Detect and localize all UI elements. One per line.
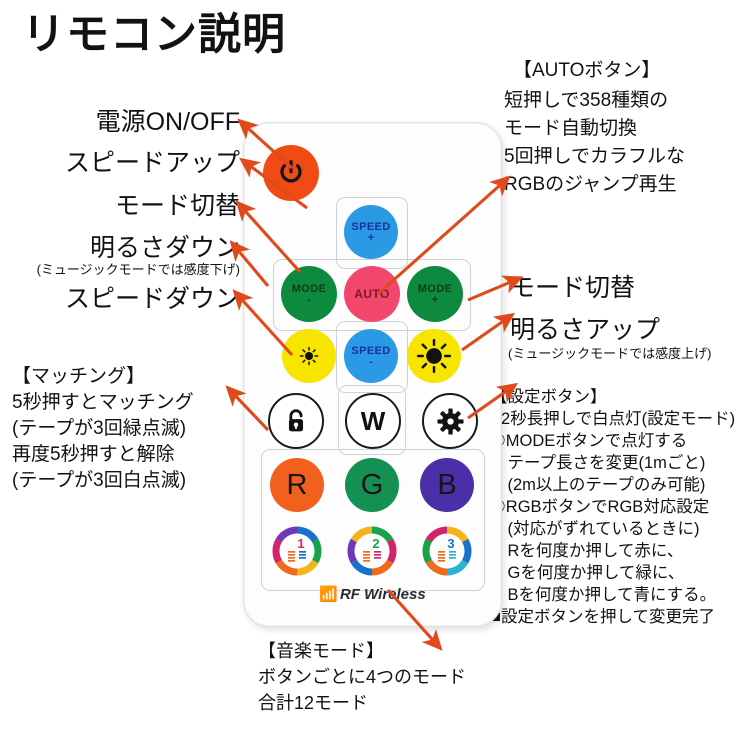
red-button[interactable]: R: [270, 458, 324, 512]
auto-line-1: 短押しで358種類の: [504, 88, 668, 113]
label-brightness-up: 明るさアップ: [510, 314, 660, 346]
svg-text:1: 1: [297, 536, 304, 551]
music-mode-icon: 1: [271, 525, 323, 577]
settings-line-5: ②RGBボタンでRGB対応設定: [491, 497, 709, 518]
wifi-icon: 📶: [319, 586, 338, 603]
matching-line-3: 再度5秒押すと解除: [12, 442, 175, 467]
unlock-icon: [281, 406, 311, 436]
settings-line-9: Bを何度か押して青にする。: [491, 585, 716, 606]
speed-down-button[interactable]: SPEED -: [344, 329, 398, 383]
auto-line-3: 5回押しでカラフルな: [504, 144, 685, 169]
remote-instruction-diagram: リモコン説明 電源ON/OFF スピードアップ モード切替 明るさダウン (ミュ…: [0, 0, 750, 750]
white-button[interactable]: W: [345, 393, 401, 449]
speed-up-button[interactable]: SPEED +: [344, 205, 398, 259]
mode-minus-button[interactable]: MODE -: [281, 266, 337, 322]
auto-button[interactable]: AUTO: [344, 266, 400, 322]
label-mode-switch-right: モード切替: [510, 272, 635, 304]
music-mode-icon: 3: [421, 525, 473, 577]
settings-line-8: Gを何度か押して緑に、: [491, 563, 684, 584]
svg-text:2: 2: [372, 536, 379, 551]
auto-line-2: モード自動切換: [504, 116, 637, 141]
green-button-label: G: [361, 471, 384, 500]
label-mode-switch-left: モード切替: [0, 190, 240, 222]
music-mode-icon: 2: [346, 525, 398, 577]
label-brightness-down-note: (ミュージックモードでは感度下げ): [0, 262, 240, 279]
green-button[interactable]: G: [345, 458, 399, 512]
label-speed-down: スピードダウン: [0, 283, 240, 315]
music-line-1: ボタンごとに4つのモード: [258, 666, 466, 690]
auto-label: AUTO: [354, 288, 389, 300]
music-mode-1-button[interactable]: 1: [271, 525, 323, 577]
red-button-label: R: [287, 471, 308, 500]
label-speed-up: スピードアップ: [0, 147, 240, 179]
gear-icon: [436, 407, 465, 436]
brand-label: 📶RF Wireless: [319, 585, 425, 603]
remote-control-body: SPEED + MODE - AUTO MODE +: [243, 122, 502, 627]
mode-minus-label: MODE: [292, 284, 327, 295]
sun-small-icon: [296, 343, 322, 369]
music-mode-3-button[interactable]: 3: [421, 525, 473, 577]
settings-line-4: (2m以上のテープのみ可能): [491, 475, 705, 496]
brand-text: RF Wireless: [340, 586, 426, 603]
speed-up-label: SPEED: [351, 222, 390, 233]
speed-down-label: SPEED: [351, 346, 390, 357]
mode-minus-sub: -: [307, 296, 311, 305]
auto-line-4: RGBのジャンプ再生: [504, 172, 677, 197]
music-mode-2-button[interactable]: 2: [346, 525, 398, 577]
lock-button[interactable]: [268, 393, 324, 449]
matching-heading: 【マッチング】: [12, 364, 145, 389]
auto-heading: 【AUTOボタン】: [513, 58, 660, 83]
label-brightness-up-note: (ミュージックモードでは感度上げ): [508, 346, 711, 363]
brightness-down-button[interactable]: [282, 329, 336, 383]
settings-heading: 【設定ボタン】: [491, 387, 607, 408]
music-heading: 【音楽モード】: [258, 640, 384, 664]
mode-plus-label: MODE: [418, 284, 453, 295]
music-line-2: 合計12モード: [258, 692, 368, 716]
blue-button[interactable]: B: [420, 458, 474, 512]
sun-large-icon: [415, 337, 453, 375]
speed-down-sub: -: [369, 358, 373, 367]
settings-line-3: テープ長さを変更(1mごと): [491, 453, 705, 474]
settings-button[interactable]: [422, 393, 478, 449]
mode-plus-button[interactable]: MODE +: [407, 266, 463, 322]
matching-line-1: 5秒押すとマッチング: [12, 390, 194, 415]
label-power-onoff: 電源ON/OFF: [0, 106, 240, 138]
brightness-up-button[interactable]: [407, 329, 461, 383]
power-icon: [276, 158, 306, 188]
matching-line-4: (テープが3回白点滅): [12, 468, 186, 493]
page-title: リモコン説明: [22, 8, 286, 63]
svg-text:3: 3: [447, 536, 454, 551]
settings-line-10: ■設定ボタンを押して変更完了: [491, 607, 715, 628]
power-button[interactable]: [263, 145, 319, 201]
speed-up-sub: +: [368, 234, 374, 243]
settings-line-6: (対応がずれているときに): [491, 519, 700, 540]
settings-line-2: ①MODEボタンで点灯する: [491, 431, 687, 452]
label-brightness-down: 明るさダウン: [0, 232, 240, 264]
white-button-label: W: [361, 408, 386, 434]
mode-plus-sub: +: [432, 296, 438, 305]
settings-line-1: ■2秒長押しで白点灯(設定モード): [491, 409, 735, 430]
settings-line-7: Rを何度か押して赤に、: [491, 541, 683, 562]
matching-line-2: (テープが3回緑点滅): [12, 416, 186, 441]
blue-button-label: B: [437, 471, 456, 500]
